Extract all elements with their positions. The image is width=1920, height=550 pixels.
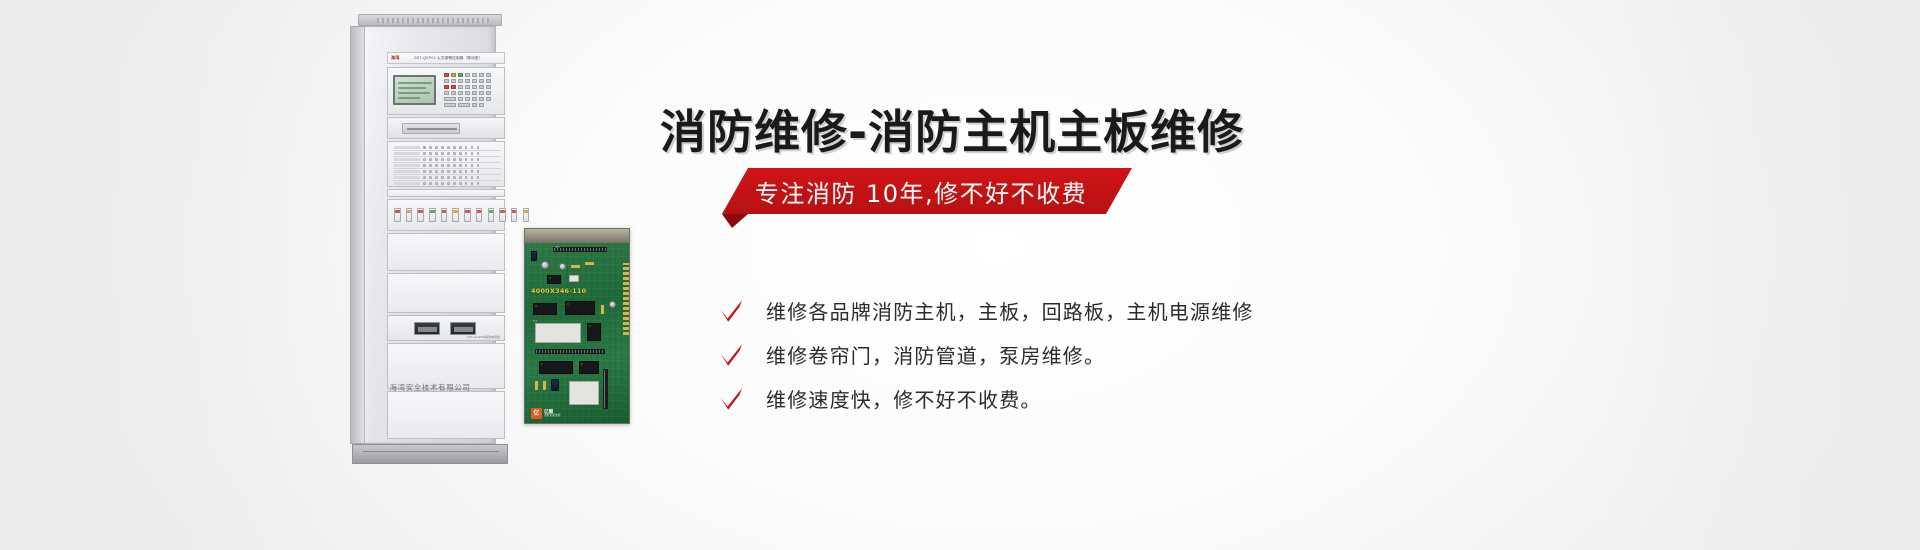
pcb-resistor-3 xyxy=(601,305,604,314)
pcb-capacitor-c1 xyxy=(531,251,537,261)
list-item: 维修卷帘门，消防管道，泵房维修。 xyxy=(718,332,1458,376)
pcb-capacitor-c2 xyxy=(551,379,559,391)
logo-subtitle: 消防主机维修 xyxy=(544,415,561,418)
cabinet-printer-slot xyxy=(402,123,460,134)
fire-alarm-cabinet-image: 海湾 GST-QKP01 火灾报警控制器（联动型） xyxy=(350,14,510,464)
pcb-electrolytic-cap-2 xyxy=(559,263,566,270)
pcb-board-label: 4000X346-110 xyxy=(531,287,586,295)
cabinet-model-text: GST-QKP01 火灾报警控制器（联动型） xyxy=(414,56,483,61)
cabinet-base xyxy=(352,444,508,464)
service-list: 维修各品牌消防主机，主板，回路板，主机电源维修 维修卷帘门，消防管道，泵房维修。… xyxy=(718,288,1458,420)
cabinet-lcd-screen xyxy=(393,75,436,105)
cabinet-brand-bar: 海湾 GST-QKP01 火灾报警控制器（联动型） xyxy=(387,52,505,64)
cabinet-voltmeter xyxy=(414,322,440,335)
cabinet-blank-panel-b xyxy=(387,233,505,271)
pcb-eprom-chip xyxy=(535,323,581,343)
cabinet-panel-note: GST-LD-8700联动电源盘 xyxy=(466,335,500,339)
pcb-ic-6 xyxy=(579,361,599,374)
cabinet-display-panel xyxy=(387,67,505,115)
cabinet-meter-panel: GST-LD-8700联动电源盘 xyxy=(387,315,505,341)
pcb-header-j2 xyxy=(535,349,605,354)
list-item-label: 维修卷帘门，消防管道，泵房维修。 xyxy=(766,340,1105,369)
list-item: 维修速度快，修不好不收费。 xyxy=(718,376,1458,420)
pcb-electrolytic-cap-1 xyxy=(541,261,549,269)
pcb-resistor-2 xyxy=(585,262,594,265)
pcb-resistor-1 xyxy=(571,265,580,268)
cabinet-vent xyxy=(377,18,489,23)
cabinet-brand-logo: 海湾 xyxy=(391,55,399,61)
mainboard-photo: 4000X346-110 JP1 U7 亿 亿图 消防主机维修 xyxy=(524,228,630,424)
cabinet-zone-lamp-panel xyxy=(387,141,505,187)
list-item-label: 维修各品牌消防主机，主板，回路板，主机电源维修 xyxy=(766,296,1254,325)
cabinet-printer-panel xyxy=(387,117,505,139)
fire-repair-banner: 海湾 GST-QKP01 火灾报警控制器（联动型） xyxy=(0,0,1920,550)
cabinet-top-cap xyxy=(358,14,502,26)
check-icon xyxy=(718,298,744,324)
list-item-label: 维修速度快，修不好不收费。 xyxy=(766,384,1042,413)
check-icon xyxy=(718,386,744,412)
pcb-ic-5 xyxy=(539,361,573,374)
cabinet-blank-panel-a xyxy=(387,189,505,197)
pcb-watermark-logo: 亿 亿图 消防主机维修 xyxy=(531,408,561,419)
promo-ribbon: 专注消防 10年,修不好不收费 xyxy=(722,168,1132,214)
cabinet-blank-panel-e xyxy=(387,391,505,439)
pcb-silkscreen-jp1: JP1 xyxy=(555,245,560,249)
pcb-component-1 xyxy=(569,275,579,282)
cabinet-indicator-panel xyxy=(387,199,505,231)
cabinet-blank-panel-c xyxy=(387,273,505,313)
pcb-ic-4 xyxy=(587,323,601,341)
page-title: 消防维修-消防主机主板维修 xyxy=(660,96,1244,162)
cabinet-keypad xyxy=(444,73,500,111)
pcb-gold-fingers xyxy=(623,263,629,335)
ribbon-text: 专注消防 10年,修不好不收费 xyxy=(722,168,1132,214)
list-item: 维修各品牌消防主机，主板，回路板，主机电源维修 xyxy=(718,288,1458,332)
pcb-silkscreen-u7: U7 xyxy=(533,319,537,323)
logo-mark-icon: 亿 xyxy=(531,408,542,419)
pcb-ic-3 xyxy=(565,301,595,315)
ribbon-tail xyxy=(722,214,748,228)
pcb-ic-1 xyxy=(547,275,561,284)
cabinet-ammeter xyxy=(450,322,476,335)
pcb-header-jp1 xyxy=(553,247,607,252)
pcb-electrolytic-cap-3 xyxy=(609,301,616,308)
pcb-header-j3 xyxy=(603,369,608,409)
pcb-resistor-5 xyxy=(543,381,546,390)
check-icon xyxy=(718,342,744,368)
pcb-resistor-4 xyxy=(535,381,538,390)
pcb-ic-2 xyxy=(533,303,557,315)
pcb-socket-chip xyxy=(569,381,599,405)
cabinet-company-name: 海湾安全技术有限公司 xyxy=(350,382,510,393)
